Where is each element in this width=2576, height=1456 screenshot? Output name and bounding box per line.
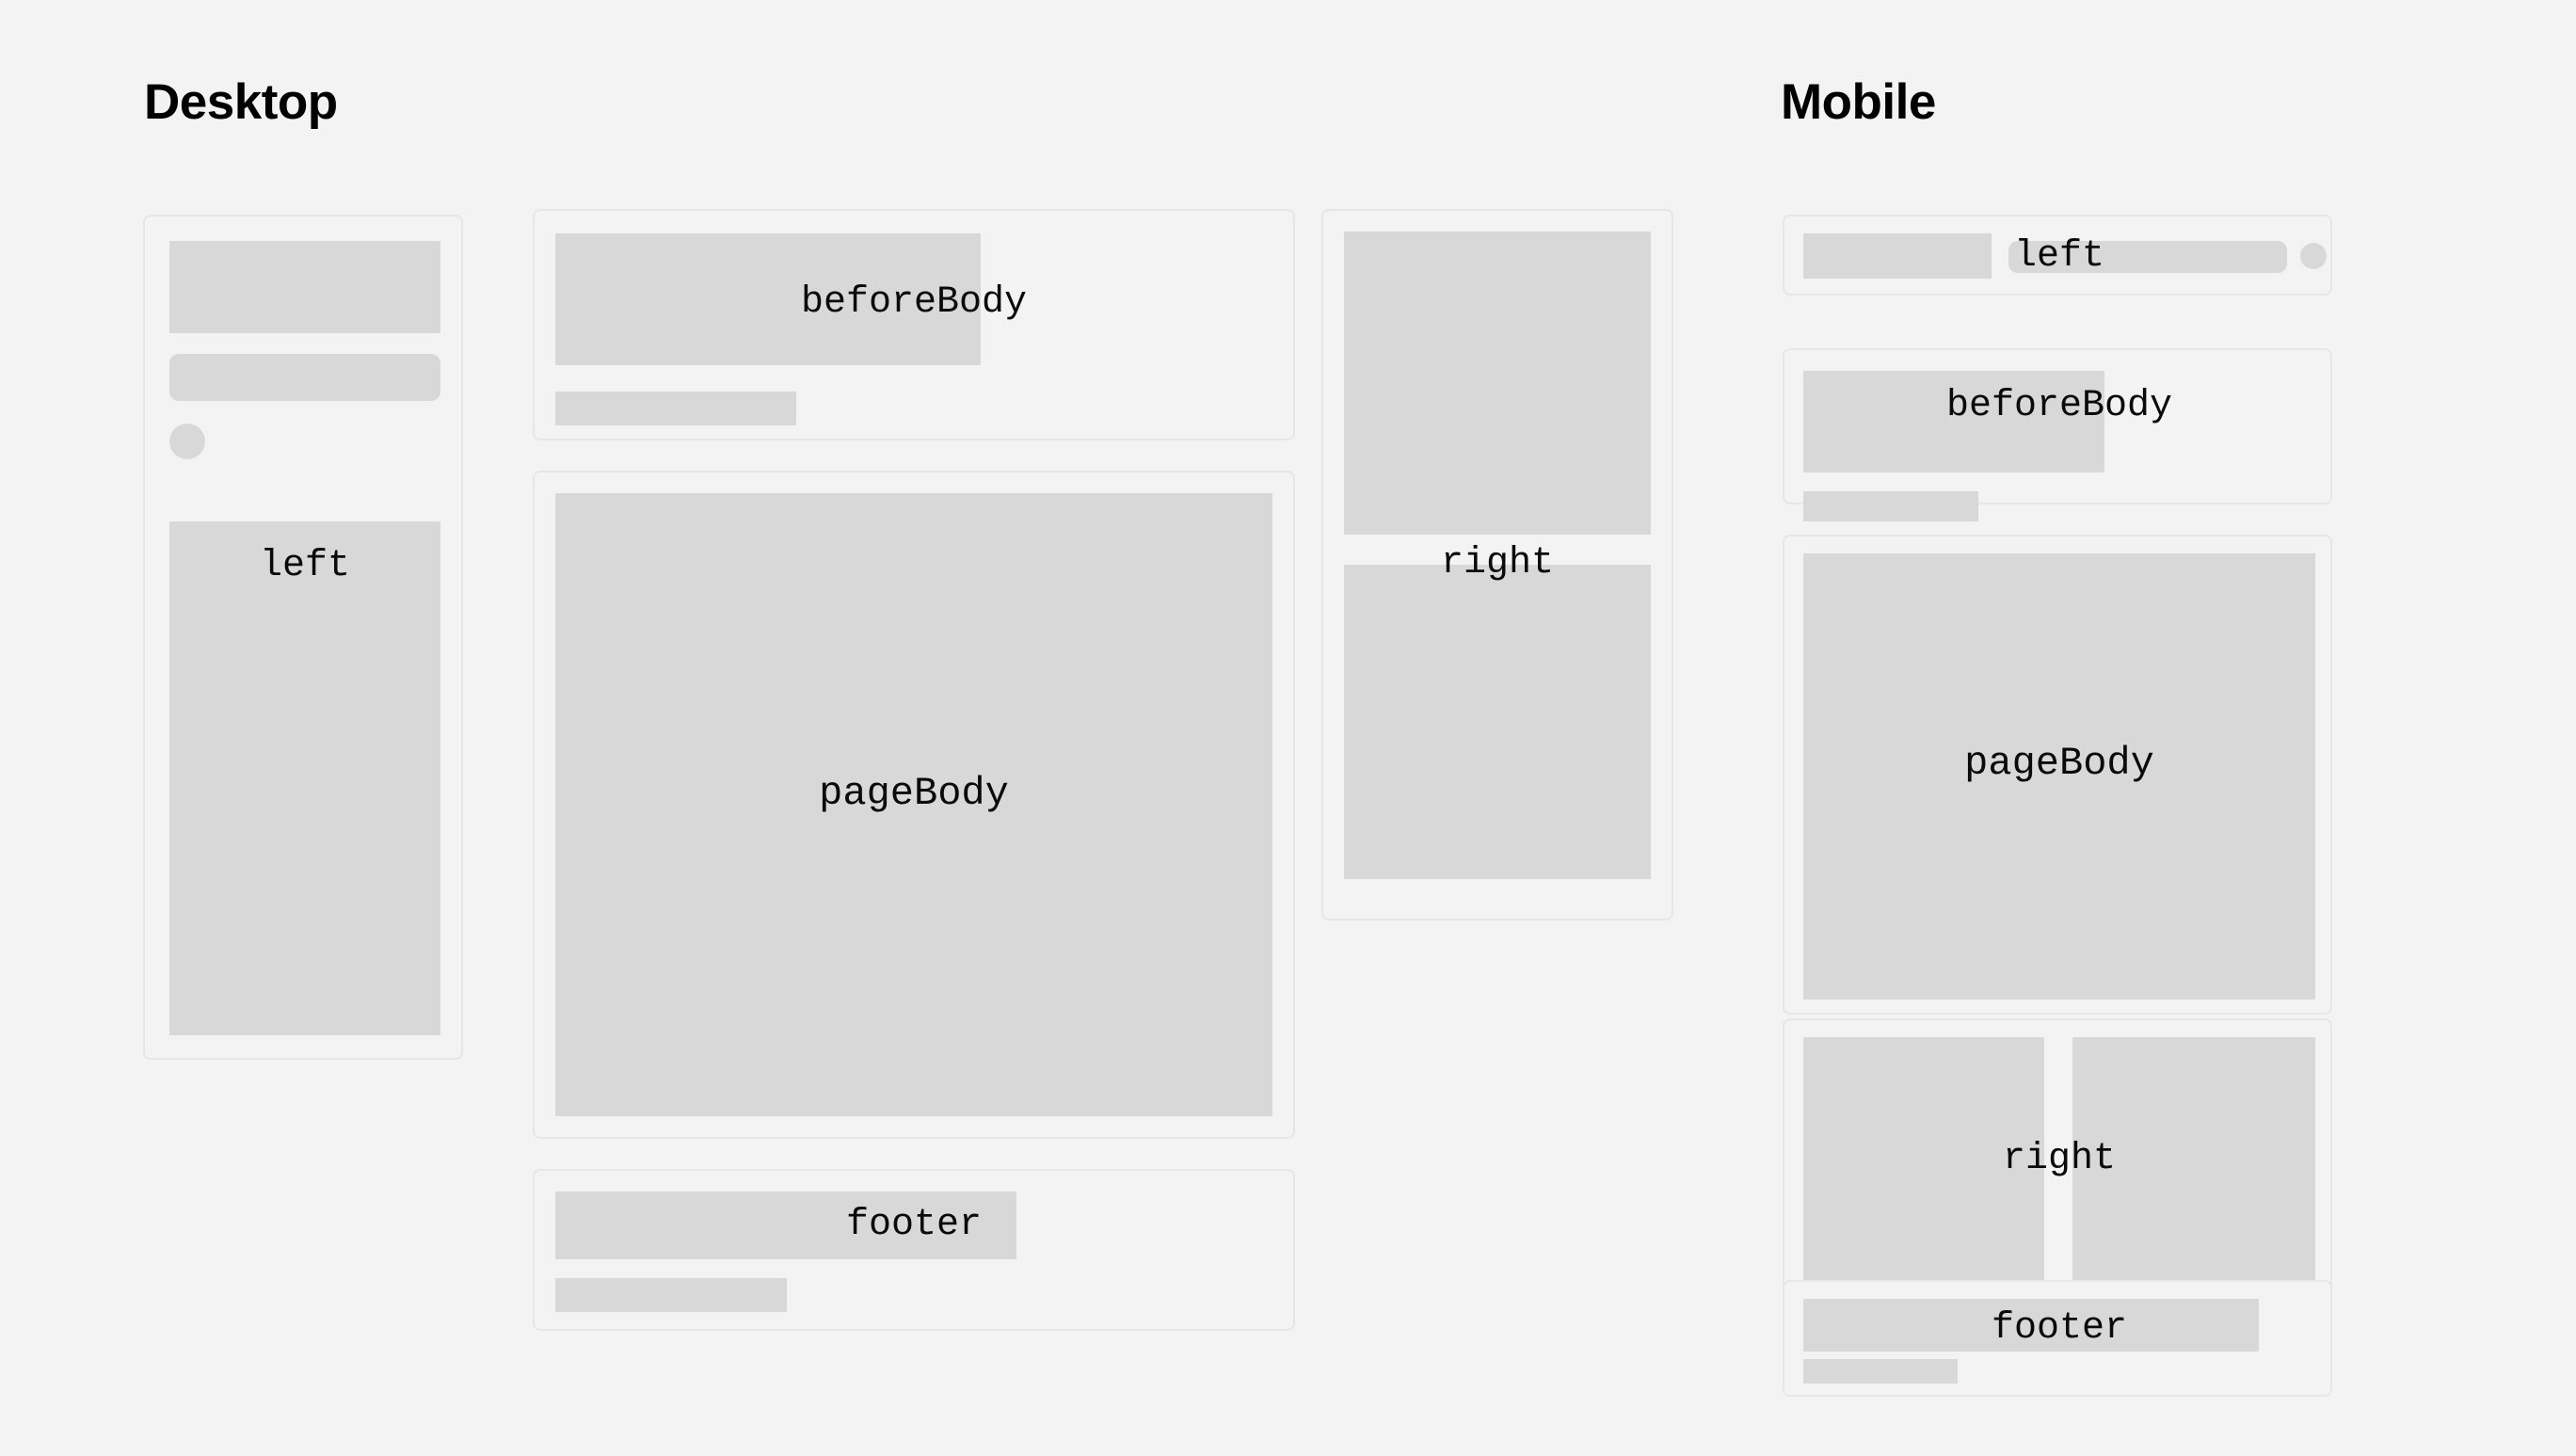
desktop-left-avatar-dot-icon: [169, 424, 205, 459]
desktop-region-pagebody[interactable]: pageBody: [533, 471, 1295, 1139]
desktop-right-aside-top-block: [1344, 232, 1651, 535]
desktop-region-left[interactable]: left: [143, 215, 463, 1060]
desktop-footer-block: [555, 1192, 1016, 1259]
mobile-beforebody-caption-bar: [1803, 491, 1978, 521]
mobile-region-left[interactable]: left: [1783, 215, 2332, 296]
desktop-beforebody-caption-bar: [555, 392, 796, 425]
desktop-footer-caption-bar: [555, 1278, 787, 1312]
desktop-left-nav-block: [169, 241, 440, 333]
desktop-region-beforebody[interactable]: beforeBody: [533, 209, 1295, 440]
mobile-beforebody-hero-block: [1803, 371, 2104, 472]
desktop-section-title: Desktop: [144, 77, 338, 127]
mobile-footer-caption-bar: [1803, 1359, 1958, 1384]
desktop-beforebody-hero-block: [555, 233, 981, 365]
desktop-region-right[interactable]: right: [1321, 209, 1673, 920]
mobile-section-title: Mobile: [1781, 77, 1936, 127]
mobile-left-avatar-dot-icon: [2300, 243, 2327, 269]
mobile-footer-block: [1803, 1299, 2259, 1352]
mobile-region-pagebody[interactable]: pageBody: [1783, 535, 2332, 1015]
mobile-right-aside-right-block: [2072, 1037, 2315, 1280]
mobile-right-aside-left-block: [1803, 1037, 2044, 1280]
mobile-region-footer[interactable]: footer: [1783, 1280, 2332, 1397]
mobile-region-right[interactable]: right: [1783, 1018, 2332, 1295]
desktop-pagebody-content-block: [555, 493, 1272, 1116]
desktop-region-footer[interactable]: footer: [533, 1169, 1295, 1331]
desktop-left-sidebar-body: [169, 521, 440, 1035]
mobile-region-beforebody[interactable]: beforeBody: [1783, 348, 2332, 504]
mobile-pagebody-content-block: [1803, 553, 2315, 1000]
mobile-left-nav-block: [1803, 233, 1992, 279]
desktop-left-search-bar: [169, 354, 440, 401]
mobile-left-search-bar: [2008, 241, 2287, 273]
layout-preview-canvas: Desktop left beforeBody pageBody footer …: [0, 0, 2576, 1456]
desktop-right-aside-bottom-block: [1344, 565, 1651, 879]
